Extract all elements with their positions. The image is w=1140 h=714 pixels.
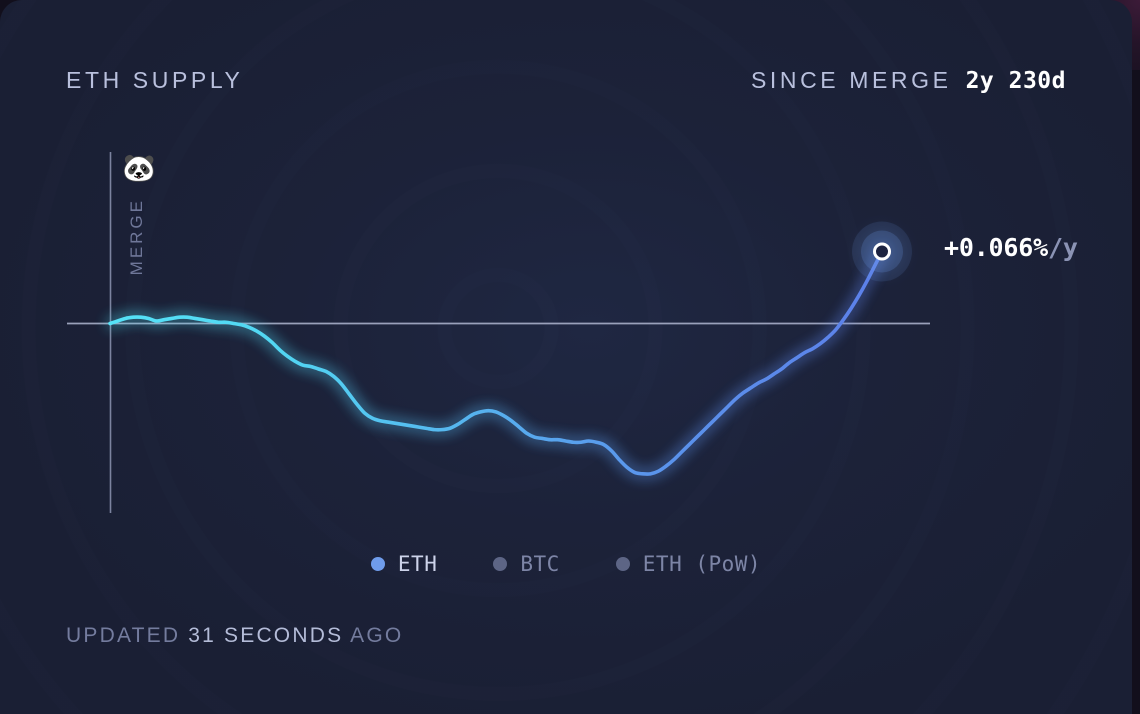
legend-item-eth[interactable]: ETH [371, 552, 437, 576]
chart-panel: ETH SUPPLY SINCE MERGE 2y 230d [0, 0, 1132, 714]
panda-emoji: 🐼 [122, 155, 156, 182]
eth-supply-widget: ETH SUPPLY SINCE MERGE 2y 230d [0, 0, 1140, 714]
legend-item-eth-pow[interactable]: ETH (PoW) [616, 552, 761, 576]
updated-value: 31 SECONDS [188, 624, 343, 647]
last-updated: UPDATED 31 SECONDS AGO [66, 624, 403, 648]
eth-supply-chart [0, 0, 1132, 714]
endpoint-value-unit: /y [1048, 233, 1078, 262]
legend-item-btc[interactable]: BTC [493, 552, 559, 576]
endpoint-marker[interactable] [852, 221, 912, 281]
endpoint-value-number: +0.066% [944, 233, 1048, 262]
legend-dot-btc [493, 557, 507, 571]
eth-supply-curve [110, 251, 882, 474]
updated-suffix: AGO [350, 624, 403, 647]
legend-label-eth: ETH [398, 552, 437, 576]
legend-label-eth-pow: ETH (PoW) [643, 552, 761, 576]
since-merge: SINCE MERGE 2y 230d [751, 67, 1066, 94]
endpoint-value-label: +0.066%/y [944, 233, 1078, 262]
legend-dot-eth-pow [616, 557, 630, 571]
legend-label-btc: BTC [520, 552, 559, 576]
background-rings [0, 0, 1132, 714]
legend-dot-eth [371, 557, 385, 571]
panel-header: ETH SUPPLY SINCE MERGE 2y 230d [0, 60, 1132, 100]
since-merge-label: SINCE MERGE [751, 67, 952, 94]
page-title: ETH SUPPLY [66, 67, 243, 94]
merge-label: MERGE [127, 198, 147, 275]
since-merge-value: 2y 230d [966, 68, 1066, 94]
updated-prefix: UPDATED [66, 624, 180, 647]
eth-supply-curve-glow [110, 251, 882, 474]
merge-marker: 🐼 MERGE [121, 155, 165, 275]
chart-legend: ETH BTC ETH (PoW) [0, 552, 1132, 576]
